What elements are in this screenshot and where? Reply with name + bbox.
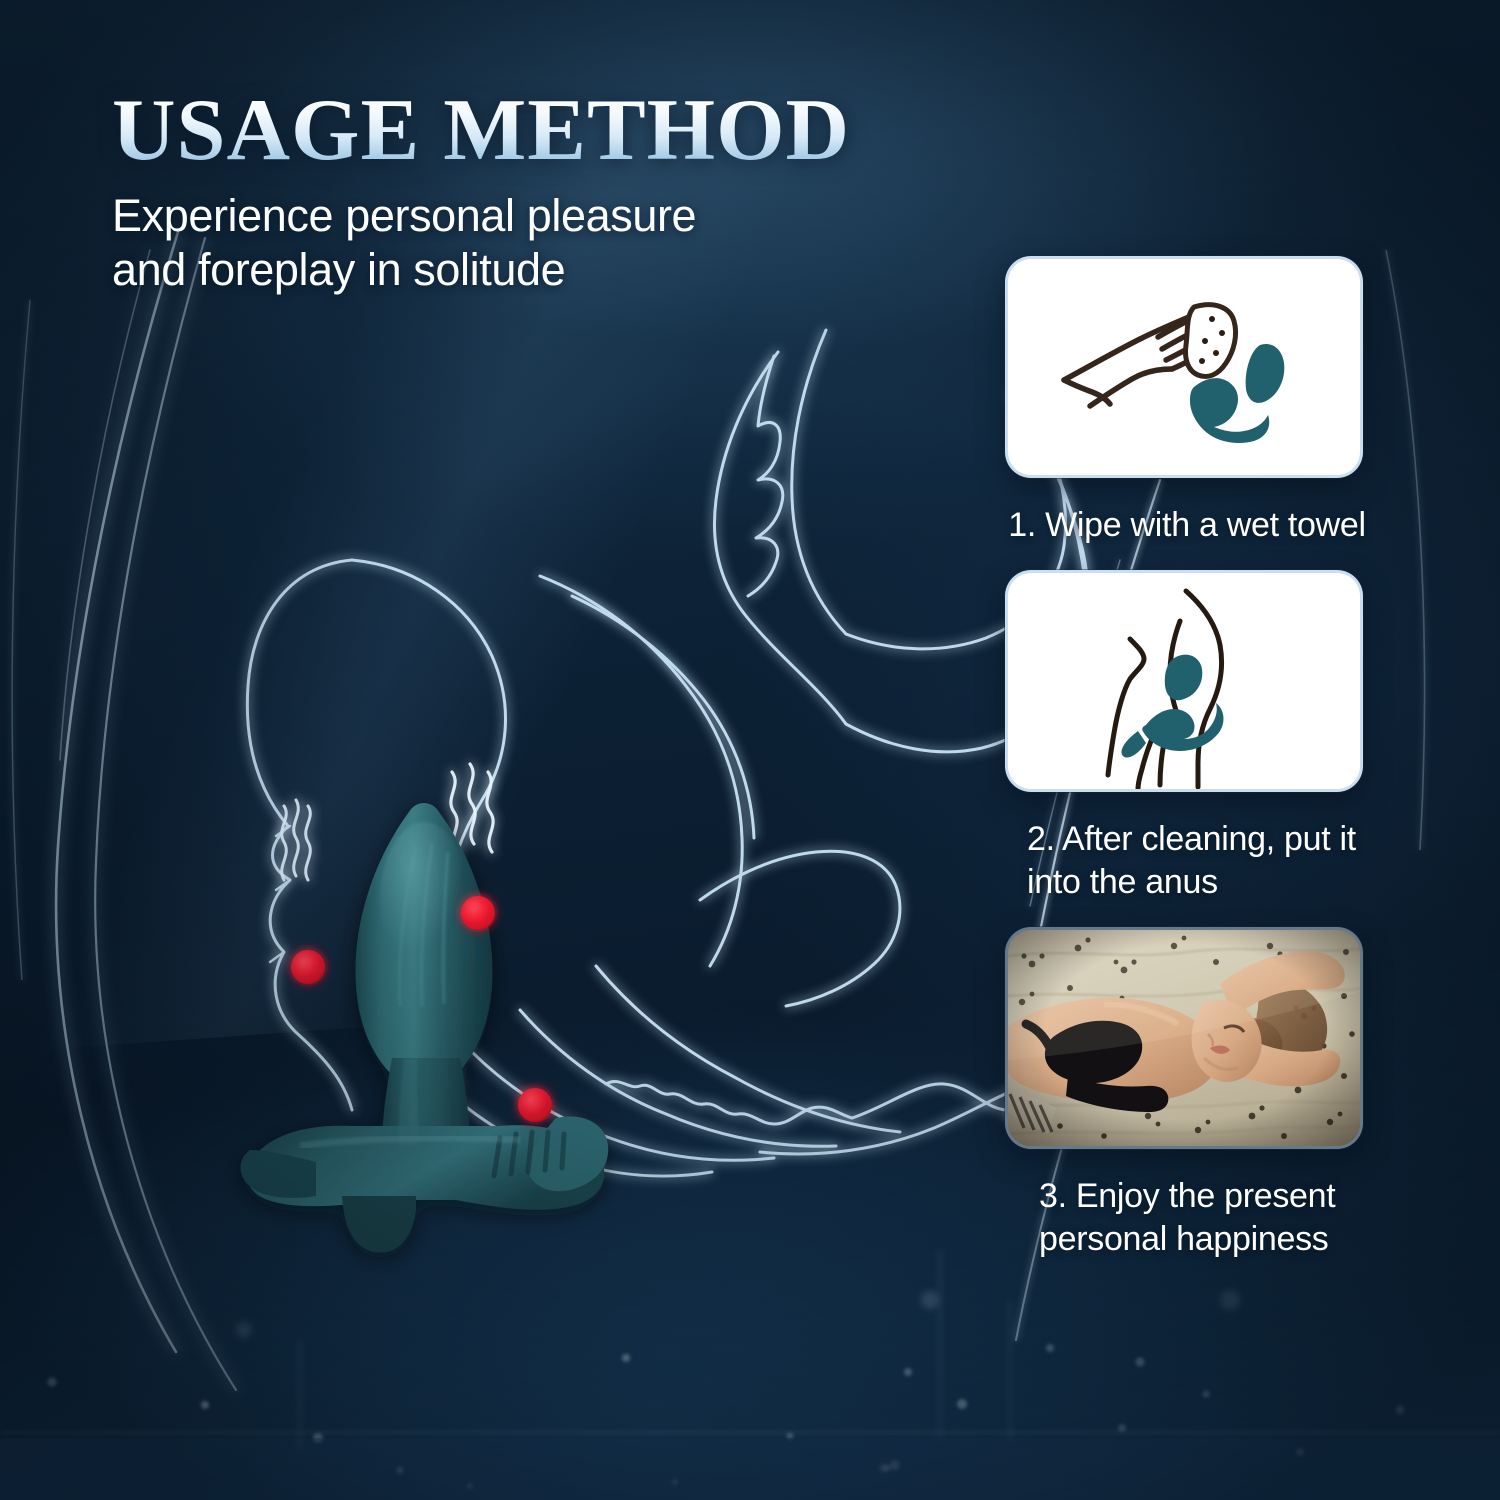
step-item-2: 2. After cleaning, put it into the anus	[1005, 570, 1369, 905]
steps-column: 1. Wipe with a wet towel	[1005, 256, 1369, 1284]
subtitle-line-2: and foreplay in solitude	[112, 243, 1072, 297]
subtitle-line-1: Experience personal pleasure	[112, 189, 1072, 243]
step-3-card[interactable]	[1005, 927, 1363, 1149]
step-item-3: 3. Enjoy the present personal happiness	[1005, 927, 1369, 1262]
step-1-card[interactable]	[1005, 256, 1363, 478]
step-3-caption: 3. Enjoy the present personal happiness	[1005, 1175, 1369, 1262]
step-1-caption-line-1: 1. Wipe with a wet towel	[1005, 504, 1369, 548]
woman-relaxing-on-bed-photo	[1008, 930, 1363, 1149]
infographic-stage: USAGE METHOD Experience personal pleasur…	[0, 0, 1500, 1500]
step-1-caption: 1. Wipe with a wet towel	[1005, 504, 1369, 548]
header-block: USAGE METHOD Experience personal pleasur…	[112, 88, 1072, 297]
page-title: USAGE METHOD	[112, 88, 1072, 173]
step-2-caption-line-1: 2. After cleaning, put it	[1027, 818, 1369, 862]
step-3-caption-line-2: personal happiness	[1039, 1218, 1369, 1262]
towel-shape	[1186, 305, 1236, 377]
step-item-1: 1. Wipe with a wet towel	[1005, 256, 1369, 548]
step-2-caption: 2. After cleaning, put it into the anus	[1005, 818, 1369, 905]
body-silhouette-with-plug-insertion-icon	[1008, 573, 1363, 792]
step-2-caption-line-2: into the anus	[1027, 861, 1369, 905]
hand-with-wet-towel-wiping-plug-icon	[1008, 259, 1363, 478]
step-2-card[interactable]	[1005, 570, 1363, 792]
page-subtitle: Experience personal pleasure and forepla…	[112, 189, 1072, 297]
step-3-caption-line-1: 3. Enjoy the present	[1039, 1175, 1369, 1219]
